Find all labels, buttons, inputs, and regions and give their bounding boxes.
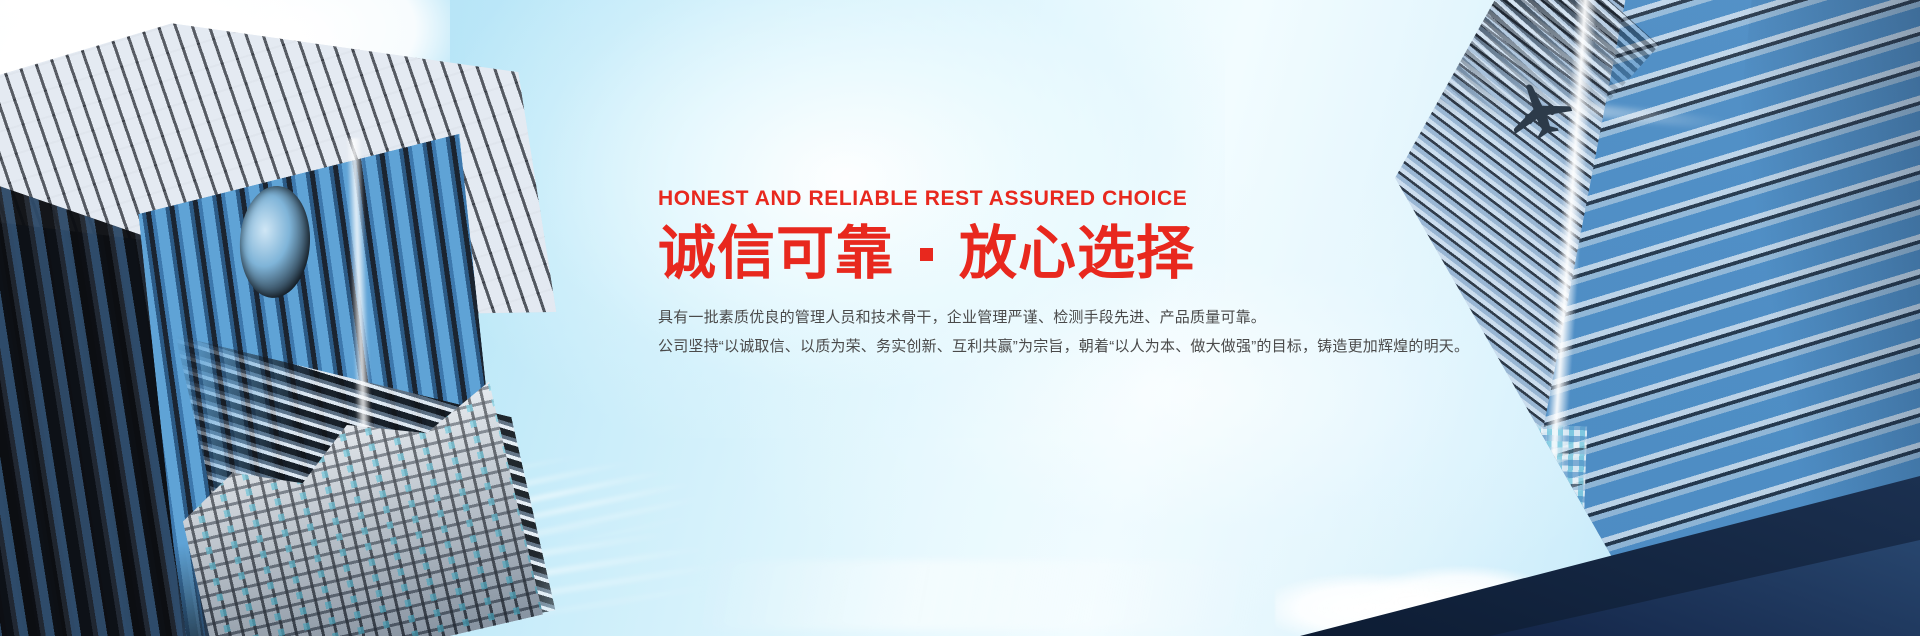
- hero-body-line-2: 公司坚持“以诚取信、以质为荣、务实创新、互利共赢”为宗旨，朝着“以人为本、做大做…: [658, 332, 1388, 361]
- hero-copy-block: HONEST AND RELIABLE REST ASSURED CHOICE …: [658, 186, 1388, 362]
- hero-eyebrow: HONEST AND RELIABLE REST ASSURED CHOICE: [658, 186, 1388, 211]
- cloud-bottom-wisp: [700, 560, 1260, 630]
- hero-headline-right: 放心选择: [959, 224, 1195, 285]
- hero-headline-left: 诚信可靠: [658, 224, 894, 285]
- hero-headline: 诚信可靠 放心选择: [658, 224, 1388, 285]
- hero-body-line-1: 具有一批素质优良的管理人员和技术骨干，企业管理严谨、检测手段先进、产品质量可靠。: [658, 303, 1388, 332]
- hero-headline-separator-dot: [920, 248, 933, 261]
- airplane-icon: [1504, 78, 1576, 140]
- hero-banner: HONEST AND RELIABLE REST ASSURED CHOICE …: [0, 0, 1920, 636]
